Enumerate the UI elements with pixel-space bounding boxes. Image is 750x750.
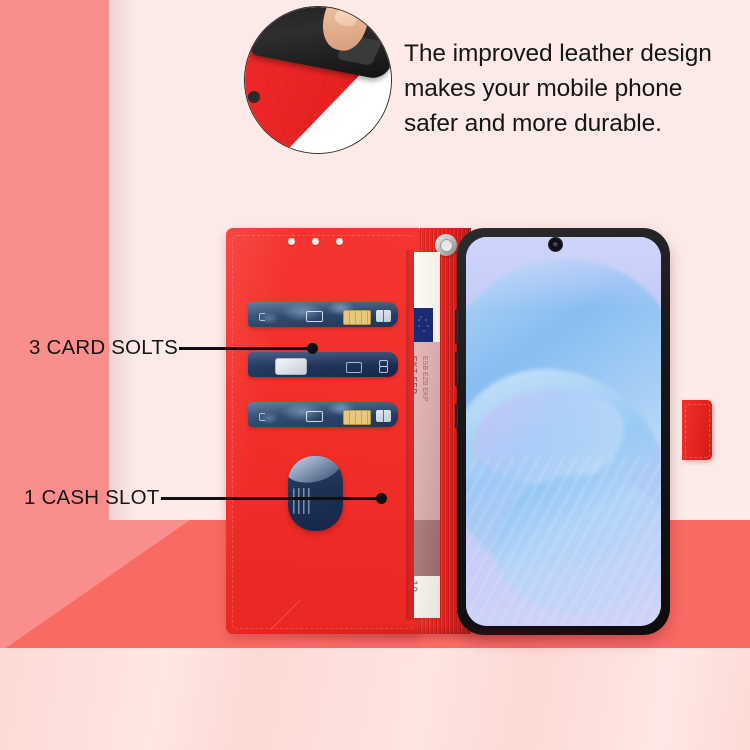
headline-text: The improved leather design makes your m… — [404, 36, 738, 141]
smartphone — [457, 228, 670, 635]
callout-card-slots-label: 3 CARD SOLTS — [29, 336, 178, 360]
callout-cash-slot-leader-line — [161, 497, 378, 500]
euro-banknote: 10 EKT EEP ESB EZB EKP 0 10 — [414, 252, 440, 618]
front-camera-icon — [548, 237, 563, 252]
magnetic-tab-stitching — [685, 404, 710, 458]
volume-down-button[interactable] — [455, 352, 459, 386]
camera-hole-icon-2 — [312, 238, 319, 245]
card-sheen — [248, 302, 398, 327]
case-camera-dot-icon — [248, 91, 260, 103]
headline-line-1: The improved leather design — [404, 36, 738, 71]
foreground-light-sheen — [0, 648, 750, 750]
product-feature-scene: The improved leather design makes your m… — [0, 0, 750, 750]
case-cover-panel — [226, 228, 420, 634]
power-button[interactable] — [455, 404, 459, 428]
wallpaper-streaks — [466, 456, 661, 626]
magnetic-closure-tab — [682, 400, 712, 460]
card-sheen — [248, 402, 398, 427]
eu-stars-icon — [418, 314, 430, 336]
card-slot-1 — [248, 302, 398, 327]
headline-line-3: safer and more durable. — [404, 106, 738, 141]
banknote-micro-text-2: ESB EZB EKP — [421, 356, 428, 402]
callout-cash-slot-label: 1 CASH SLOT — [24, 486, 160, 510]
banknote-denomination-bottom: 10 — [414, 580, 419, 592]
banknote-big-digit: 0 — [414, 528, 416, 541]
leather-detail-inset — [244, 6, 392, 154]
banknote-micro-text-1: EKT EEP — [414, 356, 418, 394]
wallpaper-top-glow — [466, 237, 661, 309]
callout-card-slots: 3 CARD SOLTS — [29, 336, 318, 360]
callout-cash-slot-endpoint-dot — [376, 493, 387, 504]
phone-screen — [466, 237, 661, 626]
case-stitching — [232, 235, 415, 629]
left-wall-panel — [0, 0, 109, 536]
camera-lens — [553, 242, 558, 247]
callout-card-slots-endpoint-dot — [307, 343, 318, 354]
case-camera-holes — [288, 238, 343, 245]
callout-cash-slot: 1 CASH SLOT — [24, 486, 387, 510]
grommet-hole — [440, 239, 453, 252]
banknote-denomination-top: 10 — [414, 256, 417, 275]
card-slot-3 — [248, 402, 398, 427]
case-contact-shadow — [236, 626, 666, 642]
wall-shadow — [109, 0, 135, 536]
volume-up-button[interactable] — [455, 310, 459, 344]
cash-slot-gloss — [288, 456, 343, 488]
banknote-color-band — [414, 520, 440, 576]
camera-hole-icon-3 — [336, 238, 343, 245]
callout-card-slots-leader-line — [179, 347, 309, 350]
camera-hole-icon-1 — [288, 238, 295, 245]
headline-line-2: makes your mobile phone — [404, 71, 738, 106]
